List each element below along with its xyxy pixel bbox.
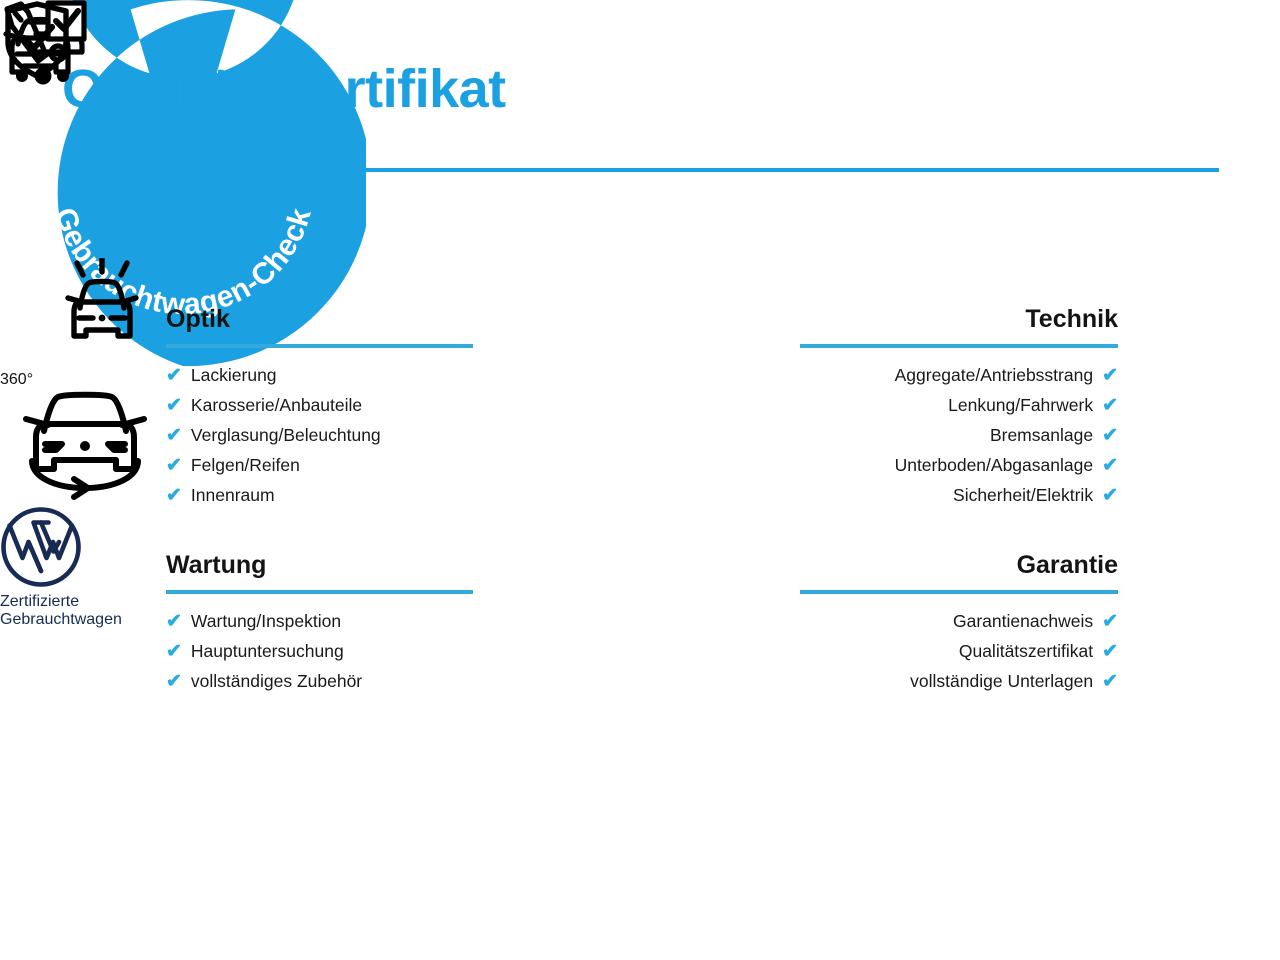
checklist-item: Qualitätszertifikat✔ (800, 636, 1118, 666)
checklist-item-label: Sicherheit/Elektrik (953, 480, 1093, 510)
checklist-item: ✔Lackierung (166, 360, 473, 390)
checklist-item: vollständige Unterlagen✔ (800, 666, 1118, 696)
section-divider-garantie (800, 590, 1118, 594)
checklist-item-label: Felgen/Reifen (191, 450, 300, 480)
checklist-garantie: Garantienachweis✔Qualitätszertifikat✔vol… (800, 606, 1118, 696)
checklist-item-label: Lenkung/Fahrwerk (948, 390, 1093, 420)
checklist-item-label: Aggregate/Antriebsstrang (895, 360, 1093, 390)
section-title-technik: Technik (1025, 305, 1118, 334)
section-header-technik: Technik (800, 296, 1118, 348)
check-icon: ✔ (1102, 486, 1118, 505)
section-divider-wartung (166, 590, 473, 594)
check-icon: ✔ (166, 426, 182, 445)
checklist-item-label: Karosserie/Anbauteile (191, 390, 362, 420)
checklist-item-label: Innenraum (191, 480, 275, 510)
checklist-item-label: Qualitätszertifikat (959, 636, 1093, 666)
checklist-item: Unterboden/Abgasanlage✔ (800, 450, 1118, 480)
section-header-optik: Optik (166, 296, 473, 348)
checklist-optik: ✔Lackierung✔Karosserie/Anbauteile✔Vergla… (166, 360, 473, 510)
section-technik: TechnikAggregate/Antriebsstrang✔Lenkung/… (800, 296, 1118, 510)
check-icon: ✔ (1102, 366, 1118, 385)
section-divider-technik (800, 344, 1118, 348)
checklist-item-label: Garantienachweis (953, 606, 1093, 636)
checklist-technik: Aggregate/Antriebsstrang✔Lenkung/Fahrwer… (800, 360, 1118, 510)
shield-check-icon (0, 0, 74, 85)
check-icon: ✔ (166, 396, 182, 415)
checklist-item-label: Unterboden/Abgasanlage (895, 450, 1094, 480)
section-title-garantie: Garantie (1017, 551, 1118, 580)
section-divider-optik (166, 344, 473, 348)
check-icon: ✔ (1102, 456, 1118, 475)
check-icon: ✔ (166, 672, 182, 691)
car-front-shine-icon (60, 258, 144, 353)
checklist-item-label: vollständige Unterlagen (910, 666, 1093, 696)
checklist-item: Bremsanlage✔ (800, 420, 1118, 450)
section-title-wartung: Wartung (166, 551, 266, 580)
checklist-item-label: Bremsanlage (990, 420, 1093, 450)
check-icon: ✔ (166, 642, 182, 661)
section-header-garantie: Garantie (800, 542, 1118, 594)
checklist-item-label: Wartung/Inspektion (191, 606, 341, 636)
section-garantie: GarantieGarantienachweis✔Qualitätszertif… (800, 542, 1118, 696)
check-icon: ✔ (1102, 642, 1118, 661)
checklist-item: ✔Innenraum (166, 480, 473, 510)
checklist-item: Garantienachweis✔ (800, 606, 1118, 636)
check-icon: ✔ (1102, 612, 1118, 631)
checklist-item: ✔Karosserie/Anbauteile (166, 390, 473, 420)
checklist-item: Aggregate/Antriebsstrang✔ (800, 360, 1118, 390)
checklist-item-label: Verglasung/Beleuchtung (191, 420, 381, 450)
checklist-item: Lenkung/Fahrwerk✔ (800, 390, 1118, 420)
section-optik: Optik✔Lackierung✔Karosserie/Anbauteile✔V… (166, 296, 473, 510)
checklist-item-label: Lackierung (191, 360, 277, 390)
check-icon: ✔ (166, 456, 182, 475)
checklist-item: ✔vollständiges Zubehör (166, 666, 473, 696)
checklist-item: ✔Verglasung/Beleuchtung (166, 420, 473, 450)
section-header-wartung: Wartung (166, 542, 473, 594)
checklist-item-label: vollständiges Zubehör (191, 666, 362, 696)
check-icon: ✔ (1102, 396, 1118, 415)
header-divider (62, 168, 1219, 172)
check-icon: ✔ (166, 612, 182, 631)
check-icon: ✔ (1102, 426, 1118, 445)
checklist-item: ✔Hauptuntersuchung (166, 636, 473, 666)
checklist-wartung: ✔Wartung/Inspektion✔Hauptuntersuchung✔vo… (166, 606, 473, 696)
section-title-optik: Optik (166, 305, 230, 334)
check-icon: ✔ (166, 366, 182, 385)
checklist-item: ✔Felgen/Reifen (166, 450, 473, 480)
checklist-item-label: Hauptuntersuchung (191, 636, 344, 666)
checklist-item: ✔Wartung/Inspektion (166, 606, 473, 636)
page-title: Qualitätszertifikat (62, 58, 506, 120)
section-wartung: Wartung✔Wartung/Inspektion✔Hauptuntersuc… (166, 542, 473, 696)
checklist-item: Sicherheit/Elektrik✔ (800, 480, 1118, 510)
check-icon: ✔ (166, 486, 182, 505)
check-icon: ✔ (1102, 672, 1118, 691)
